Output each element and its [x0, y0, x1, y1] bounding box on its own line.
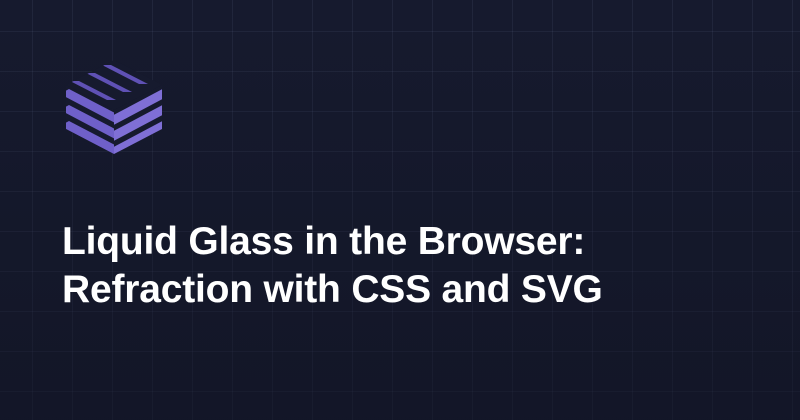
- striped-cube-logo: [62, 60, 166, 154]
- page-title-line-2: Refraction with CSS and SVG: [62, 266, 722, 314]
- card-content: Liquid Glass in the Browser: Refraction …: [62, 0, 762, 420]
- social-preview-card: Liquid Glass in the Browser: Refraction …: [0, 0, 800, 420]
- page-title: Liquid Glass in the Browser: Refraction …: [62, 218, 722, 314]
- page-title-line-1: Liquid Glass in the Browser:: [62, 218, 722, 266]
- striped-cube-logo-icon: [62, 60, 166, 154]
